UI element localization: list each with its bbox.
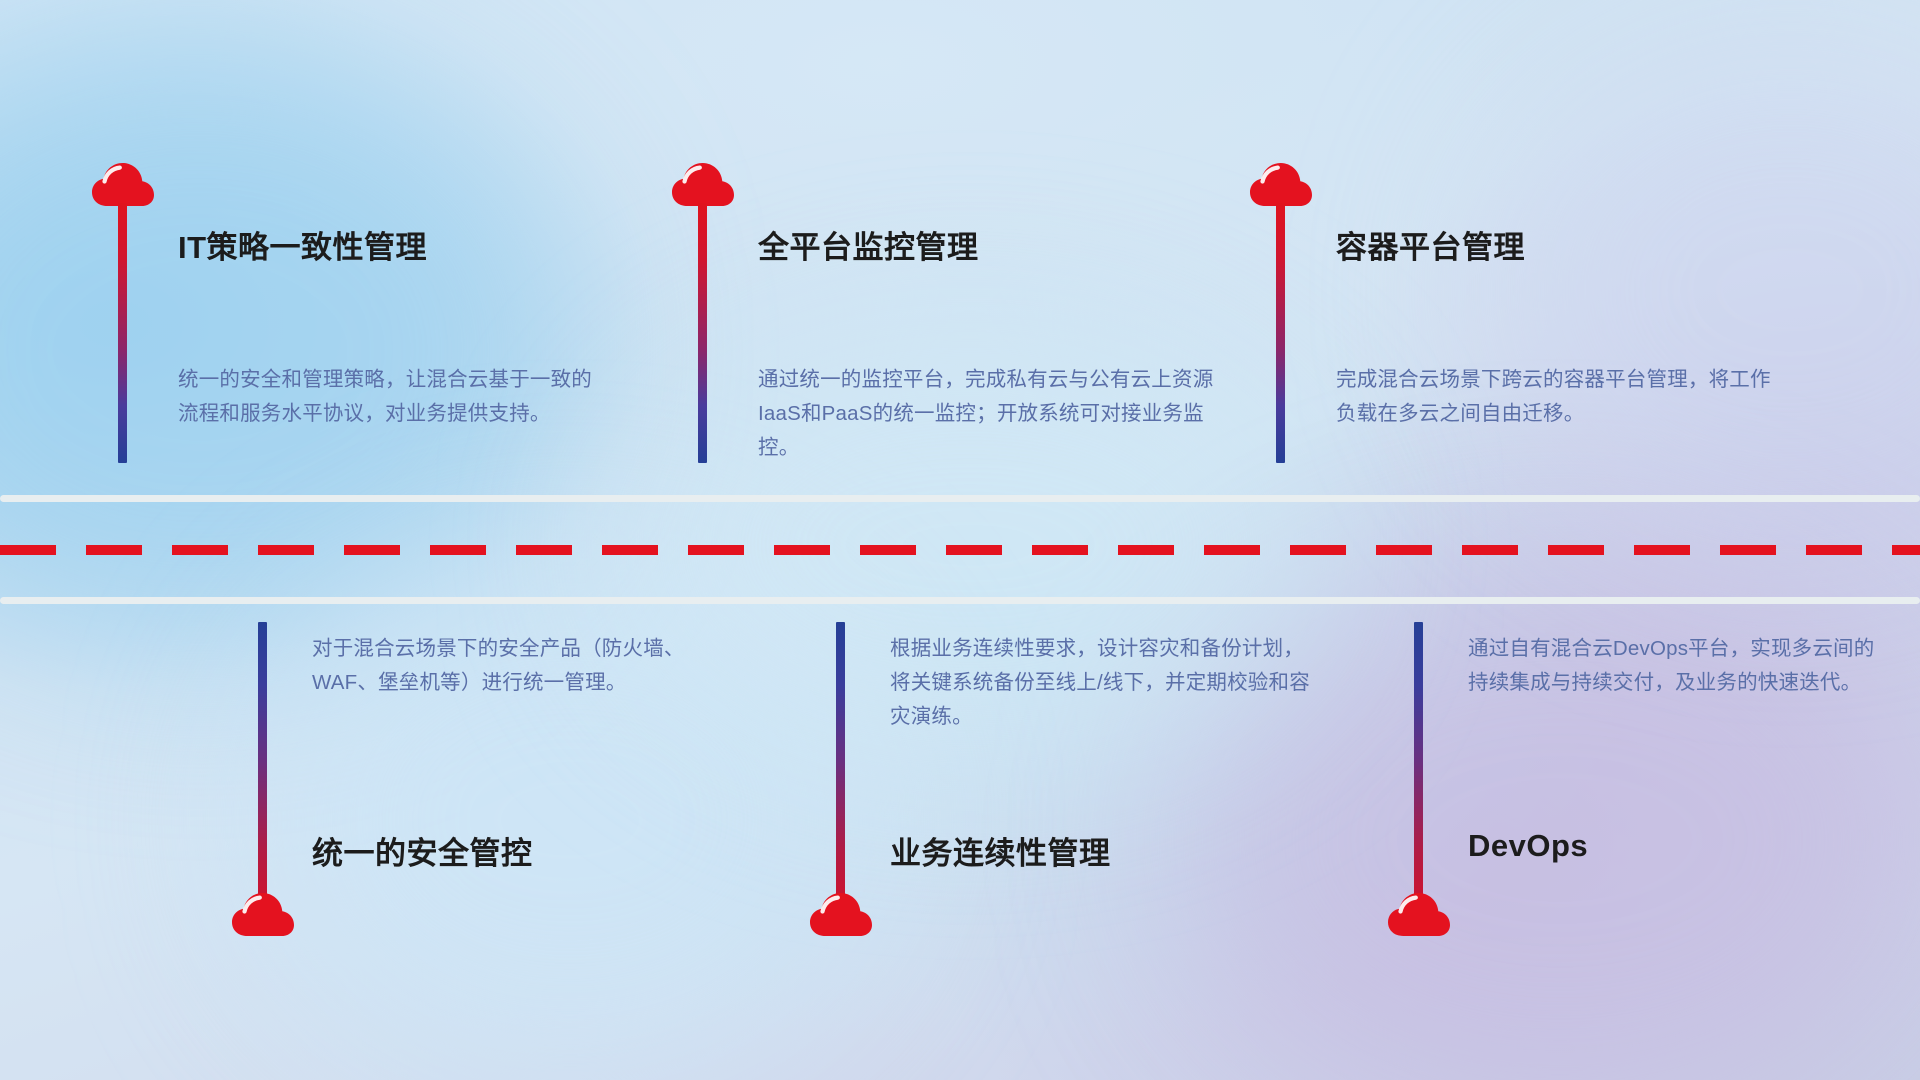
- feature-description: 通过自有混合云DevOps平台，实现多云间的持续集成与持续交付，及业务的快速迭代…: [1468, 632, 1884, 700]
- divider-rule-top: [0, 495, 1920, 502]
- feature-heading: IT策略一致性管理: [178, 222, 427, 267]
- feature-heading: 容器平台管理: [1336, 222, 1525, 267]
- cloud-icon: [1386, 890, 1452, 938]
- background-blob: [0, 40, 580, 660]
- cloud-icon: [1248, 160, 1314, 208]
- connector-line: [836, 622, 845, 912]
- cloud-icon: [230, 890, 296, 938]
- feature-description: 根据业务连续性要求，设计容灾和备份计划，将关键系统备份至线上/线下，并定期校验和…: [890, 632, 1310, 734]
- feature-description: 对于混合云场景下的安全产品（防火墙、WAF、堡垒机等）进行统一管理。: [312, 632, 732, 700]
- feature-description: 通过统一的监控平台，完成私有云与公有云上资源IaaS和PaaS的统一监控；开放系…: [758, 363, 1214, 465]
- feature-heading: DevOps: [1468, 828, 1588, 864]
- feature-heading: 统一的安全管控: [312, 828, 533, 873]
- cloud-icon: [808, 890, 874, 938]
- connector-line: [118, 203, 127, 463]
- infographic-canvas: IT策略一致性管理 统一的安全和管理策略，让混合云基于一致的流程和服务水平协议，…: [0, 0, 1920, 1080]
- cloud-icon: [670, 160, 736, 208]
- feature-description: 统一的安全和管理策略，让混合云基于一致的流程和服务水平协议，对业务提供支持。: [178, 363, 594, 431]
- feature-heading: 全平台监控管理: [758, 222, 979, 267]
- connector-line: [1414, 622, 1423, 912]
- divider-rule-bottom: [0, 597, 1920, 604]
- background-blob: [1480, 30, 1920, 550]
- connector-line: [698, 203, 707, 463]
- connector-line: [1276, 203, 1285, 463]
- connector-line: [258, 622, 267, 912]
- feature-heading: 业务连续性管理: [890, 828, 1111, 873]
- divider-dashed-line: [0, 545, 1920, 555]
- feature-description: 完成混合云场景下跨云的容器平台管理，将工作负载在多云之间自由迁移。: [1336, 363, 1776, 431]
- cloud-icon: [90, 160, 156, 208]
